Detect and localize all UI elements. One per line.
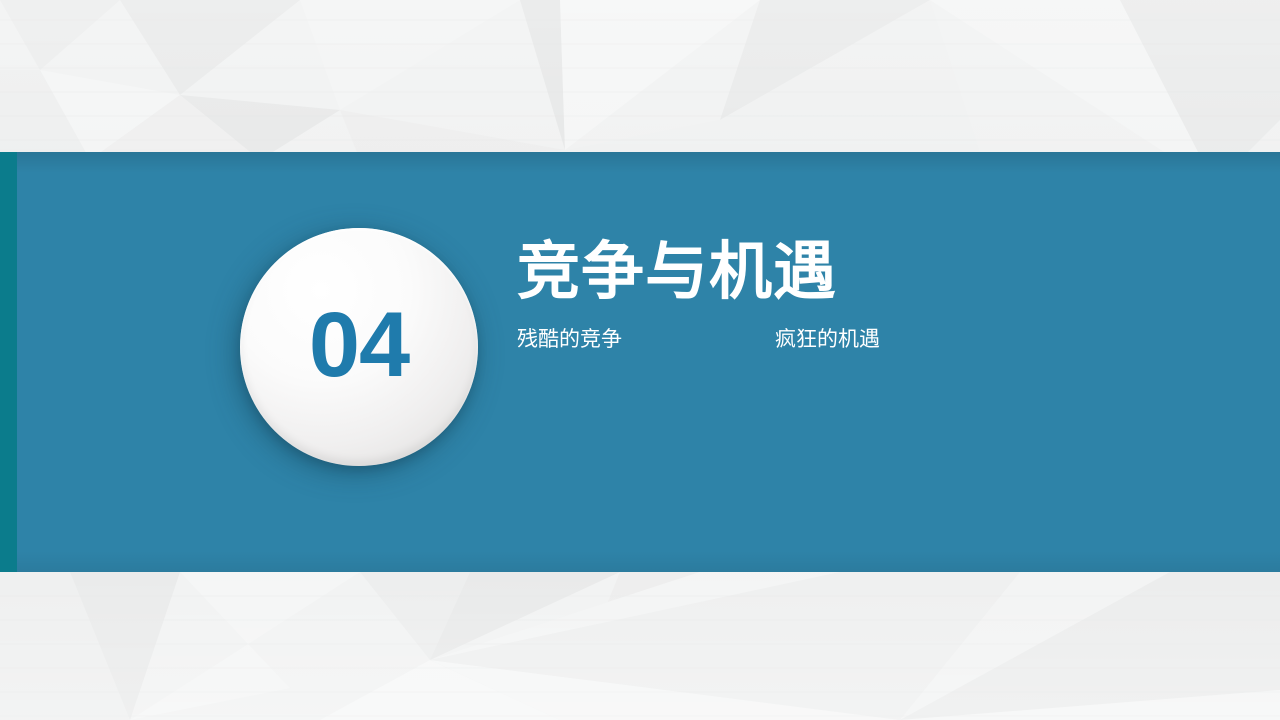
badge-circle: 04 — [240, 228, 478, 466]
presentation-slide: 04 竞争与机遇 残酷的竞争 疯狂的机遇 — [0, 0, 1280, 720]
subtitle-row: 残酷的竞争 疯狂的机遇 — [517, 326, 1217, 353]
banner-shadow-overlay — [0, 152, 1280, 572]
page-title: 竞争与机遇 — [517, 238, 1217, 306]
subtitle-item-1: 残酷的竞争 — [517, 326, 775, 353]
subtitle-item-2: 疯狂的机遇 — [775, 326, 880, 353]
section-banner — [0, 152, 1280, 572]
section-number-badge: 04 — [240, 228, 478, 466]
section-text-block: 竞争与机遇 残酷的竞争 疯狂的机遇 — [517, 238, 1217, 353]
section-number-text: 04 — [309, 299, 409, 391]
banner-accent-bar — [0, 152, 17, 572]
